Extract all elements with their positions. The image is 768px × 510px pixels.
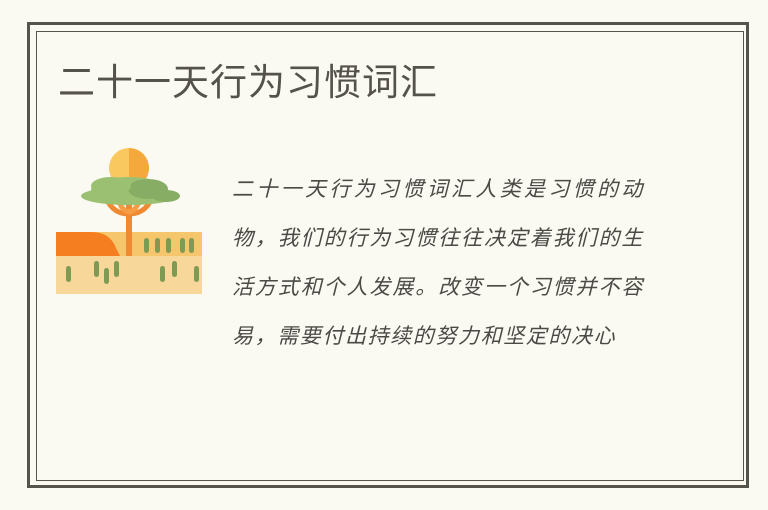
savanna-acacia-tree-illustration (56, 148, 202, 294)
article-content: 二十一天行为习惯词汇人类是习惯的动物，我们的行为习惯往往决定着我们的生活方式和个… (56, 148, 656, 408)
poster-page: 二十一天行为习惯词汇 (0, 0, 768, 510)
article-body-text: 二十一天行为习惯词汇人类是习惯的动物，我们的行为习惯往往决定着我们的生活方式和个… (232, 165, 644, 361)
page-title: 二十一天行为习惯词汇 (58, 60, 438, 106)
